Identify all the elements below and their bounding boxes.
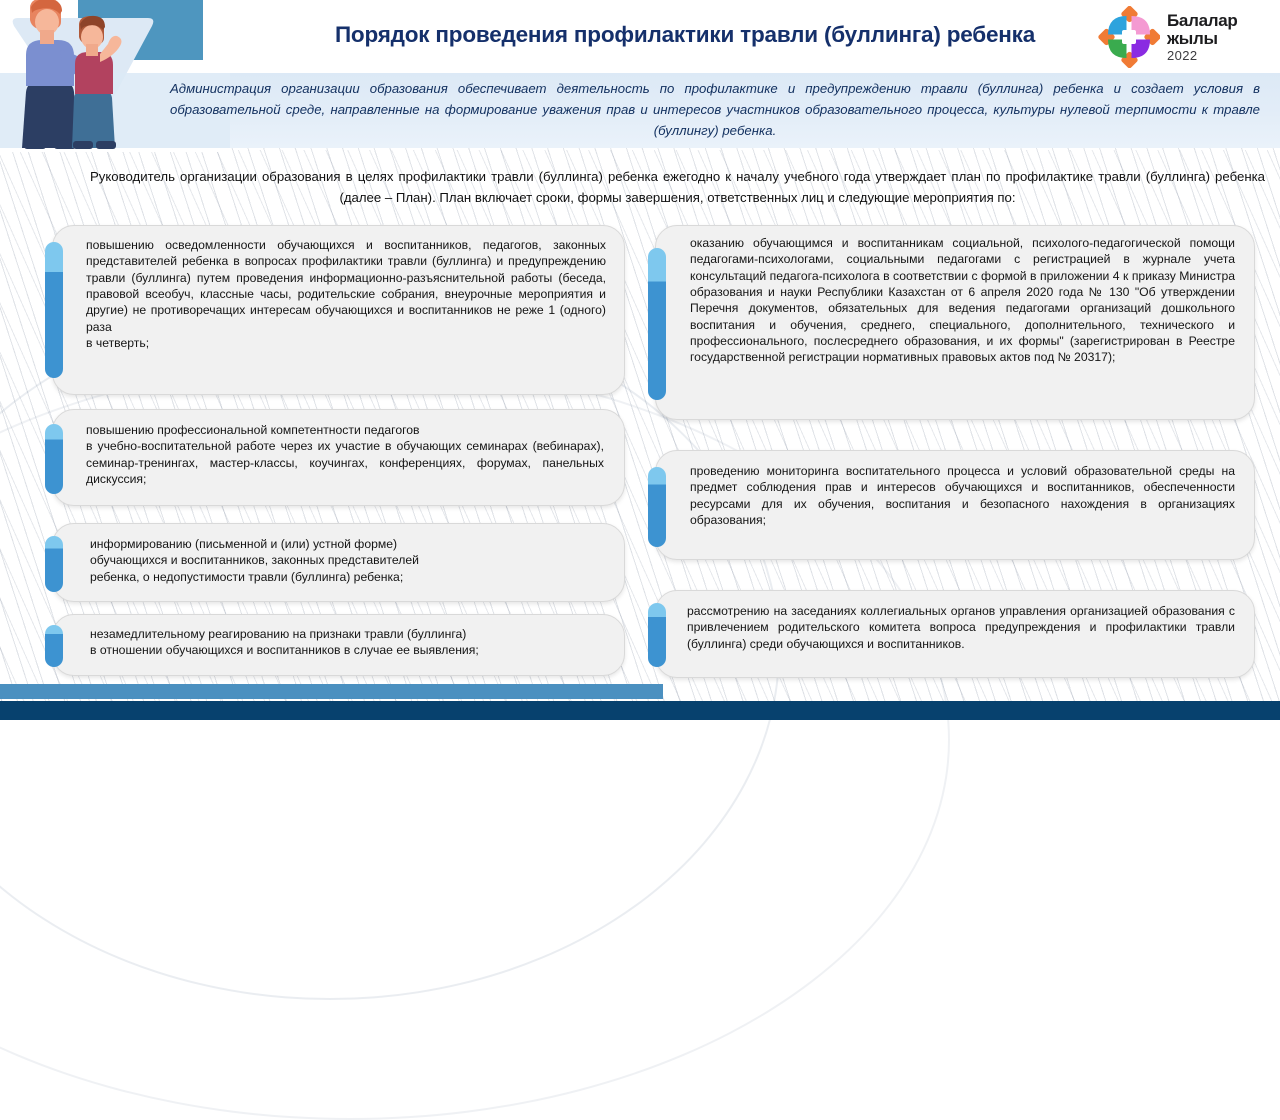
- footer-accent-bar: [0, 684, 663, 699]
- card-accent-bar: [45, 424, 63, 494]
- card-text: рассмотрению на заседаниях коллегиальных…: [687, 603, 1235, 652]
- measure-card-informing: информированию (письменной и (или) устно…: [52, 523, 625, 602]
- logo-line-2: жылы: [1167, 30, 1237, 47]
- card-text: проведению мониторинга воспитательного п…: [690, 463, 1235, 528]
- card-accent-bar: [648, 603, 666, 667]
- footer-bar: [0, 701, 1280, 720]
- logo-text: Балалар жылы 2022: [1167, 12, 1237, 62]
- card-accent-bar: [45, 625, 63, 667]
- logo-year: 2022: [1167, 49, 1237, 62]
- measure-card-teacher-competence: повышению профессиональной компетентност…: [52, 409, 625, 506]
- measure-card-collegial-review: рассмотрению на заседаниях коллегиальных…: [655, 590, 1255, 678]
- card-accent-bar: [45, 242, 63, 378]
- quote-text: Администрация организации образования об…: [170, 79, 1260, 142]
- measure-card-awareness: повышению осведомленности обучающихся и …: [52, 225, 625, 395]
- page-title: Порядок проведения профилактики травли (…: [290, 22, 1080, 48]
- measure-card-psychological-help: оказанию обучающимся и воспитанникам соц…: [655, 225, 1255, 420]
- measure-card-monitoring: проведению мониторинга воспитательного п…: [655, 450, 1255, 560]
- intro-paragraph: Руководитель организации образования в ц…: [90, 166, 1265, 209]
- card-accent-bar: [648, 467, 666, 547]
- flower-logo-icon: [1098, 6, 1160, 68]
- card-text: оказанию обучающимся и воспитанникам соц…: [690, 235, 1235, 366]
- card-text: повышению профессиональной компетентност…: [86, 422, 604, 487]
- balalar-zhyly-logo: Балалар жылы 2022: [1098, 4, 1276, 70]
- logo-line-1: Балалар: [1167, 12, 1237, 29]
- card-text: повышению осведомленности обучающихся и …: [86, 237, 606, 351]
- card-text: незамедлительному реагированию на призна…: [90, 626, 602, 659]
- measure-card-immediate-response: незамедлительному реагированию на призна…: [52, 614, 625, 676]
- card-accent-bar: [648, 248, 666, 400]
- card-accent-bar: [45, 536, 63, 592]
- card-text: информированию (письменной и (или) устно…: [90, 536, 602, 585]
